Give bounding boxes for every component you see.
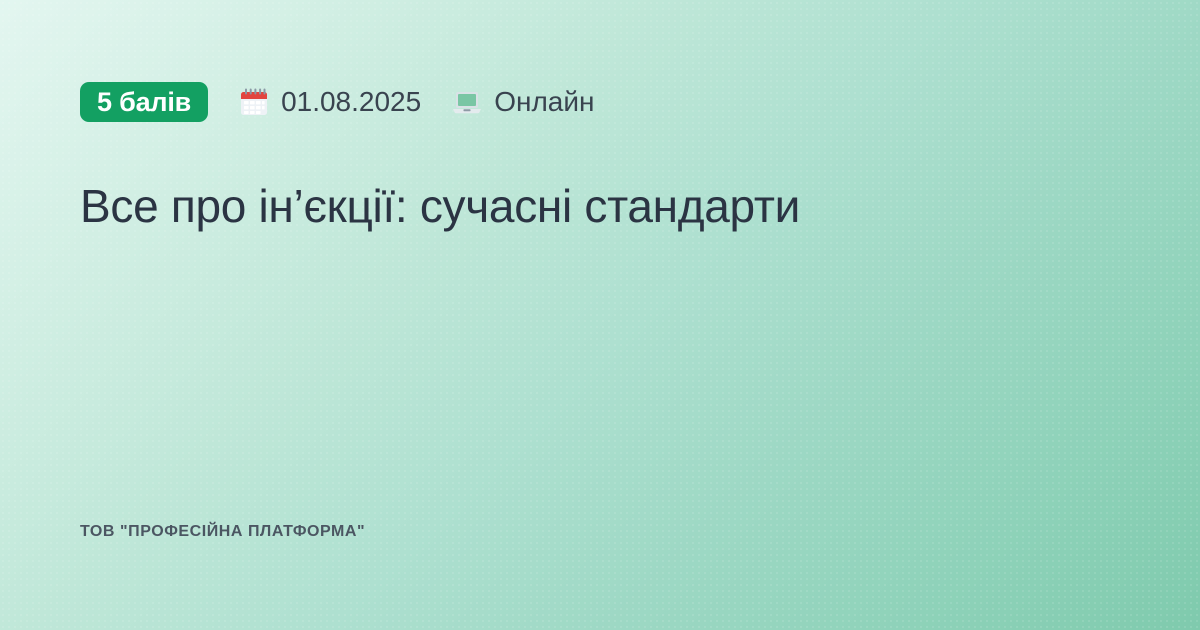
- points-badge: 5 балів: [80, 82, 208, 122]
- card-content: 5 балів: [80, 0, 1120, 630]
- calendar-icon: [238, 86, 270, 118]
- event-format-value: Онлайн: [494, 88, 594, 116]
- page-title: Все про ін’єкції: сучасні стандарти: [80, 178, 1080, 236]
- laptop-icon: [451, 86, 483, 118]
- event-date-value: 01.08.2025: [281, 88, 421, 116]
- event-format: Онлайн: [451, 86, 594, 118]
- event-date: 01.08.2025: [238, 86, 421, 118]
- event-card: 5 балів: [0, 0, 1200, 630]
- meta-row: 5 балів: [80, 82, 594, 122]
- organization-name: ТОВ "ПРОФЕСІЙНА ПЛАТФОРМА": [80, 524, 365, 540]
